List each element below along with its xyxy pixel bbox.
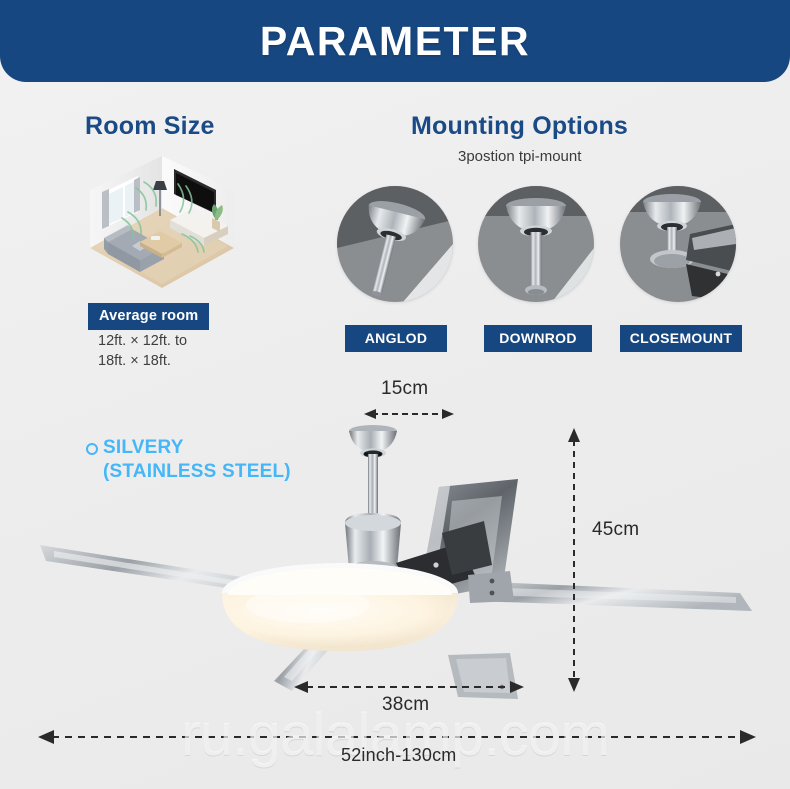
room-dimensions-text: 12ft. × 12ft. to 18ft. × 18ft. <box>98 332 187 371</box>
dimension-label-canopy-width: 15cm <box>381 378 428 400</box>
dimension-label-height: 45cm <box>592 519 639 541</box>
isometric-living-room-illustration <box>78 150 246 298</box>
header-banner: PARAMETER <box>0 0 790 82</box>
parameter-page: PARAMETER Room Size Mounting Options 3po… <box>0 0 790 789</box>
mounting-options-heading: Mounting Options <box>411 112 628 141</box>
dimension-label-light-diameter: 38cm <box>382 694 429 716</box>
mount-label-anglod: ANGLOD <box>345 325 447 352</box>
angled-mount-photo <box>337 186 453 302</box>
page-title: PARAMETER <box>260 18 530 65</box>
downrod-mount-photo <box>478 186 594 302</box>
mounting-options-subtitle: 3postion tpi-mount <box>458 148 581 165</box>
mount-label-downrod: DOWNROD <box>484 325 592 352</box>
closemount-photo <box>620 186 736 302</box>
ceiling-fan-image <box>40 415 760 715</box>
average-room-badge: Average room <box>88 303 209 330</box>
dimension-label-blade-span: 52inch-130cm <box>341 745 456 766</box>
mount-label-closemount: CLOSEMOUNT <box>620 325 742 352</box>
room-size-heading: Room Size <box>85 112 215 141</box>
